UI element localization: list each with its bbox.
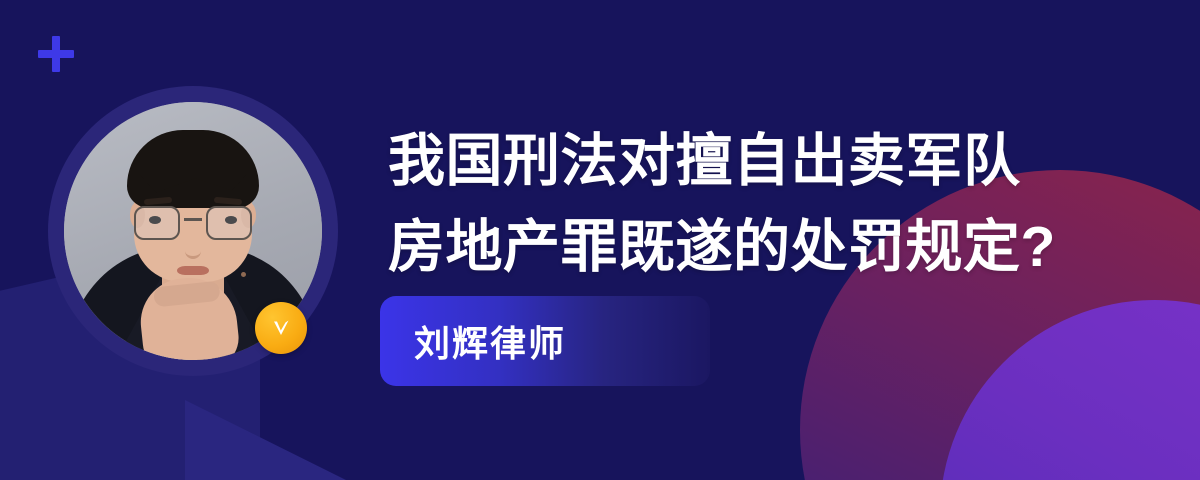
lawyer-name-label: 刘辉律师 <box>380 315 566 367</box>
portrait-glasses-left <box>134 206 180 240</box>
verified-v-badge <box>255 302 307 354</box>
legal-qa-banner: 我国刑法对擅自出卖军队 房地产罪既遂的处罚规定? 刘辉律师 <box>0 0 1200 480</box>
decorative-triangle-shape <box>185 400 350 480</box>
portrait-mouth <box>177 266 209 275</box>
page-title: 我国刑法对擅自出卖军队 房地产罪既遂的处罚规定? <box>388 118 1088 290</box>
headline-block: 我国刑法对擅自出卖军队 房地产罪既遂的处罚规定? <box>388 118 1088 290</box>
portrait-nose <box>185 234 201 259</box>
portrait-mole <box>241 272 246 277</box>
lawyer-name-badge[interactable]: 刘辉律师 <box>380 296 710 386</box>
portrait-glasses-bridge <box>184 218 202 221</box>
plus-icon <box>38 36 74 72</box>
portrait-glasses-right <box>206 206 252 240</box>
gradient-blob-purple <box>940 300 1200 480</box>
avatar[interactable] <box>48 86 338 376</box>
